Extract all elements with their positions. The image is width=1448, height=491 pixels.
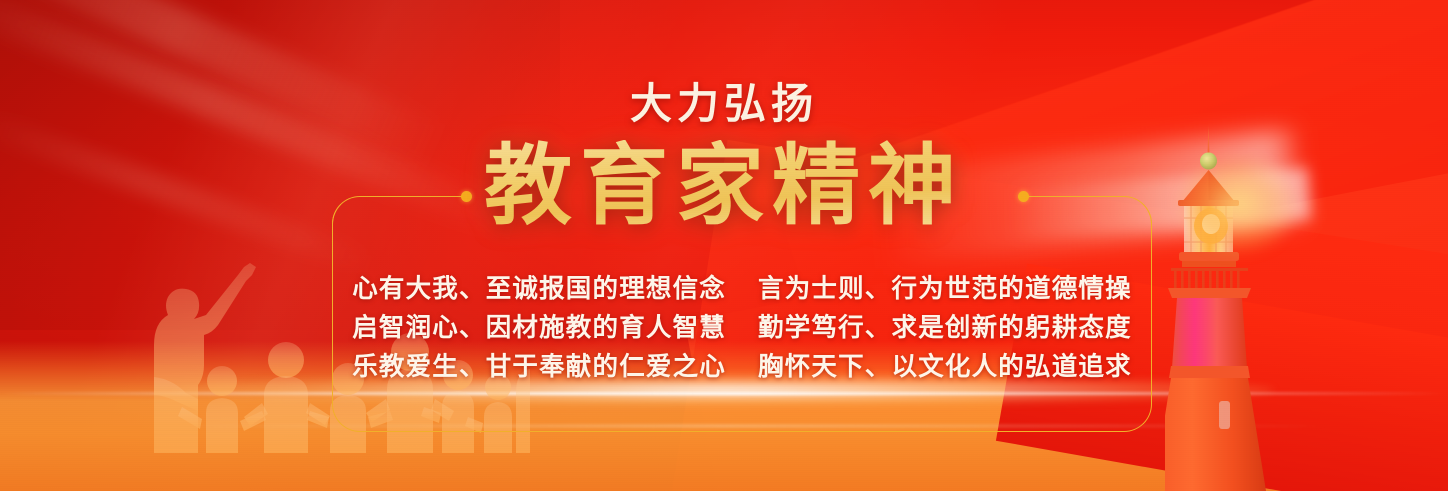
slogan-column-left: 心有大我、至诚报国的理想信念 启智润心、因材施教的育人智慧 乐教爱生、甘于奉献的… [352, 272, 742, 385]
slogan-item: 勤学笃行、求是创新的躬耕态度 [758, 311, 1132, 346]
slogan-item: 启智润心、因材施教的育人智慧 [352, 311, 726, 346]
page-title: 教育家精神 [0, 140, 1448, 232]
education-spirit-banner: 大力弘扬 教育家精神 教育家精神 心有大我、至诚报国的理想信念 启智润心、因材施… [0, 0, 1448, 491]
slogan-block: 心有大我、至诚报国的理想信念 启智润心、因材施教的育人智慧 乐教爱生、甘于奉献的… [332, 272, 1152, 385]
slogan-item: 乐教爱生、甘于奉献的仁爱之心 [352, 350, 726, 385]
slogan-item: 言为士则、行为世范的道德情操 [758, 272, 1132, 307]
slogan-item: 胸怀天下、以文化人的弘道追求 [758, 350, 1132, 385]
slogan-column-right: 言为士则、行为世范的道德情操 勤学笃行、求是创新的躬耕态度 胸怀天下、以文化人的… [742, 272, 1132, 385]
banner-headline: 大力弘扬 [0, 70, 1448, 131]
slogan-item: 心有大我、至诚报国的理想信念 [352, 272, 726, 307]
